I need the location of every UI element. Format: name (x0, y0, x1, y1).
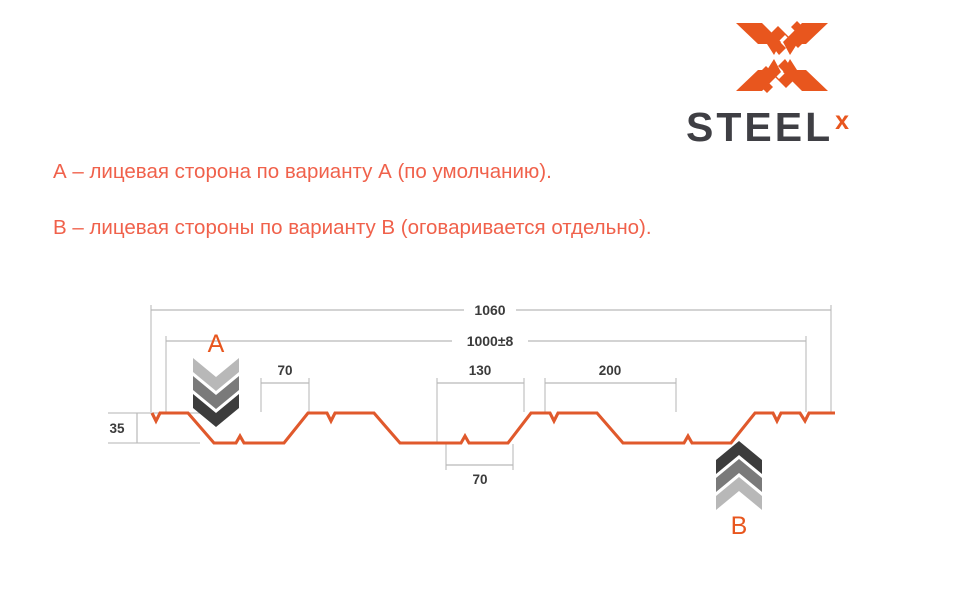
marker-b: В (716, 441, 762, 540)
dimension-label-1000: 1000±8 (467, 333, 514, 349)
dimension-crest-width: 70 (261, 363, 309, 412)
dimension-label-70-valley: 70 (472, 472, 487, 487)
dimension-label-130: 130 (469, 363, 492, 378)
profile-technical-drawing: 1060 1000±8 35 70 130 200 (0, 0, 970, 597)
dimension-rib-pitch-partial: 130 (437, 363, 524, 443)
dimension-label-35: 35 (109, 421, 125, 436)
dimension-rib-pitch: 200 (545, 363, 676, 412)
marker-a: А (193, 330, 239, 427)
dimension-valley-width: 70 (446, 444, 513, 487)
dimension-overall-width: 1060 (151, 302, 831, 412)
dimension-label-200: 200 (599, 363, 622, 378)
dimension-label-70-crest: 70 (277, 363, 292, 378)
marker-a-letter: А (208, 330, 225, 358)
marker-b-letter: В (731, 512, 748, 540)
dimension-label-1060: 1060 (474, 302, 505, 318)
corrugated-profile-line (152, 413, 835, 443)
